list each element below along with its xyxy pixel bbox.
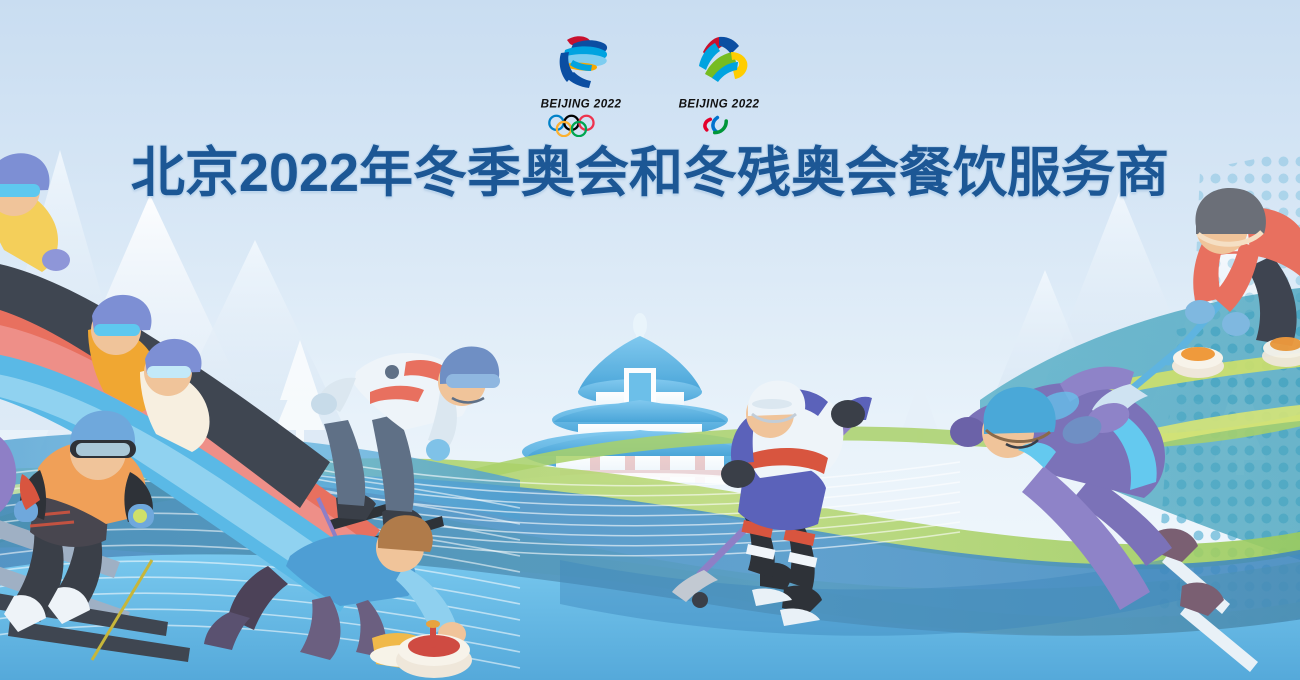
svg-text:BEIJING 2022: BEIJING 2022 [679,98,760,111]
paralympic-emblem-mark [681,32,757,92]
olympic-emblem-mark [543,32,619,92]
emblem-row: BEIJING 2022 [0,32,1300,137]
olympic-rings-icon [544,114,618,137]
olympic-wordmark: BEIJING 2022 [531,96,631,111]
paralympic-wordmark: BEIJING 2022 [669,96,769,111]
page-title: 北京2022年冬季奥会和冬残奥会餐饮服务商 [0,142,1300,204]
svg-text:BEIJING 2022: BEIJING 2022 [541,98,622,111]
agitos-icon [682,114,756,137]
olympic-emblem: BEIJING 2022 [533,32,629,137]
paralympic-emblem: BEIJING 2022 [671,32,767,137]
beijing-2022-catering-banner: BEIJING 2022 [0,0,1300,680]
